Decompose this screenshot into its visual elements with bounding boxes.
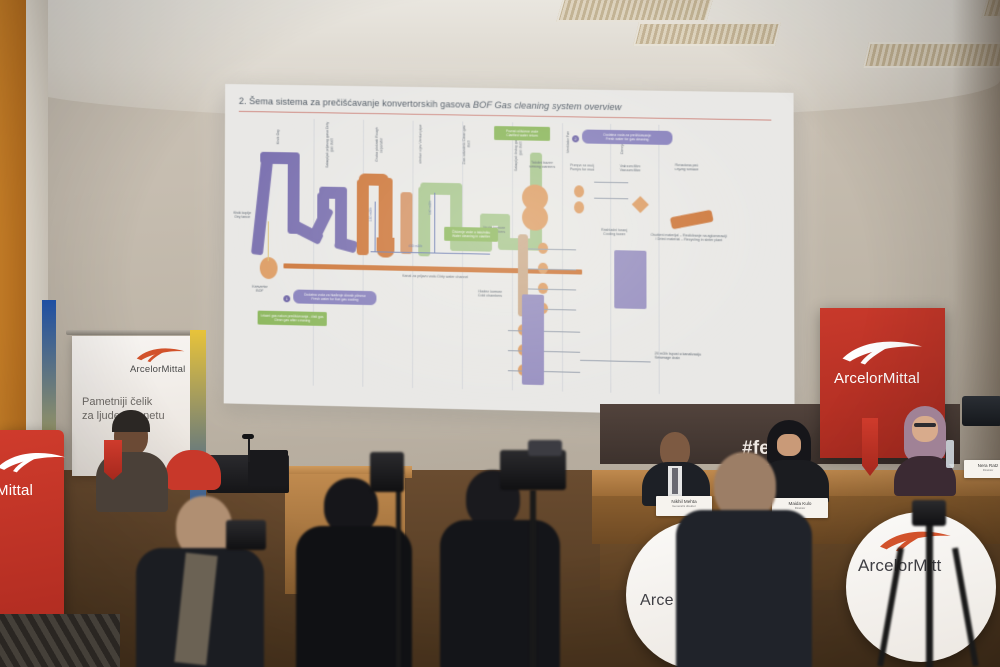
- slide-title-local: Šema sistema za prečišćavanje konvertors…: [249, 96, 470, 109]
- water-bottle: [946, 440, 954, 468]
- wall-monitor: [962, 396, 1000, 426]
- arcelormittal-wordmark: Arce: [640, 592, 674, 610]
- diagram-column-label: Sakupljač prljavog gasa Dirty gas duct: [325, 121, 337, 169]
- camera-front-left: [226, 520, 266, 550]
- photographer-front-center: [676, 452, 812, 667]
- rollup-slogan-line1: Pametniji čelik: [82, 396, 194, 410]
- nameplate-role: Direktor: [964, 468, 1000, 472]
- callout-clean-gas: Izlazni gas nakon prečišćavanja - čisti …: [258, 311, 327, 326]
- camera-viewfinder: [528, 440, 562, 456]
- tripod-leg: [926, 512, 933, 667]
- diagram-column-label: Gas odvodnik Clean gas duct: [462, 123, 472, 165]
- label-bof: Konvertor BOF: [236, 284, 283, 294]
- microphone-stand: [248, 438, 250, 462]
- diagram-column-label: Venturi cijev Venturi pipe: [418, 123, 428, 165]
- arcelormittal-logo-icon: [0, 448, 70, 474]
- ceiling-light-panel: [556, 0, 713, 22]
- label-cooling-tower: Rashladni toranj Cooling tower: [588, 228, 640, 238]
- monitor: [248, 450, 288, 486]
- arcelormittal-logo-icon: [876, 526, 956, 554]
- arcelormittal-standee-left: Mittal: [0, 430, 64, 630]
- arcelormittal-logo-icon: [838, 336, 928, 366]
- ceiling-light-panel: [633, 22, 781, 46]
- arcelormittal-wordmark: ArcelorMittal: [130, 364, 185, 375]
- rollup-banner-bar: [66, 330, 206, 335]
- red-chair: [165, 450, 221, 490]
- arcelormittal-logo-icon: [134, 344, 188, 364]
- arcelormittal-wordmark-partial: Mittal: [0, 482, 33, 499]
- callout-clarified-water: Povrat očišćene vode Clarified water ret…: [494, 126, 550, 141]
- dimension-label: 130 m3/h: [369, 207, 373, 221]
- callout-water-cleaning: Čišćenje vode u taložniku Water cleaning…: [444, 227, 498, 242]
- nameplate: Nera Ratz Direktor: [964, 460, 1000, 478]
- label-settling-clarifiers: Taložni bazen Settling clarifiers: [518, 160, 566, 170]
- label-cold-chambers: Hladne komore Cold chambers: [468, 289, 512, 299]
- conference-room-scene: 2. Šema sistema za prečišćavanje konvert…: [0, 0, 1000, 667]
- callout-badge-1: 1: [283, 295, 290, 302]
- callout-fresh-water-cleaning: Dodatna voda za prečišćavanje Fresh wate…: [582, 129, 672, 144]
- tripod-leg: [396, 470, 401, 667]
- diagram-column-label: Gruba pločasti Rough separator: [375, 122, 387, 168]
- label-vacuum-filter: Vakuum filter Vacuum filter: [608, 164, 652, 174]
- videographer-center: [440, 470, 560, 666]
- slide-title-number: 2.: [239, 96, 247, 106]
- microphone-icon: [242, 434, 254, 439]
- annotation-recycling-sinter: Osušeni materijal – Recikliranje na aglo…: [650, 233, 727, 244]
- camera-on-tripod: [912, 500, 946, 526]
- slide-diagram: Kisik Oxy Sakupljač prljavog gasa Dirty …: [224, 114, 795, 418]
- diagram-column-label: Ventilator Fan: [566, 125, 574, 159]
- tripod-leg: [530, 490, 536, 667]
- podium-flag-arcelormittal: [104, 440, 122, 480]
- callout-fresh-water-cooling: Dodatna voda za hlađenje dimnih plinova …: [293, 289, 376, 305]
- arcelormittal-wordmark: ArcelorMittal: [834, 370, 920, 387]
- photographer-center-left: [296, 478, 412, 667]
- table-flag-arcelormittal: [862, 418, 878, 476]
- floor-grate: [0, 614, 120, 667]
- dimension-label: 430 m3/h: [408, 244, 422, 248]
- diagram-column-label: Kisik Oxy: [276, 120, 284, 154]
- wall-orange-strip: [0, 0, 26, 470]
- label-mud-pumps: Pumpa za mulj Pumps for mud: [560, 163, 604, 173]
- slide-title-english: BOF Gas cleaning system overview: [473, 100, 621, 112]
- annotation-sewerage-drain: 20 m3/h Ispust u kanalizaciju Sewerage d…: [655, 351, 718, 361]
- callout-badge-2: 2: [572, 135, 579, 142]
- label-drying-furnace: Rotaciona peć Drying furnace: [662, 163, 710, 173]
- camera-center-left: [370, 452, 404, 492]
- video-camera: [500, 450, 566, 490]
- label-oxy-lance: Kisik koplje Oxy lance: [219, 210, 266, 220]
- projection-screen: 2. Šema sistema za prečišćavanje konvert…: [224, 84, 795, 417]
- dimension-label: 140 m3/h: [428, 201, 432, 215]
